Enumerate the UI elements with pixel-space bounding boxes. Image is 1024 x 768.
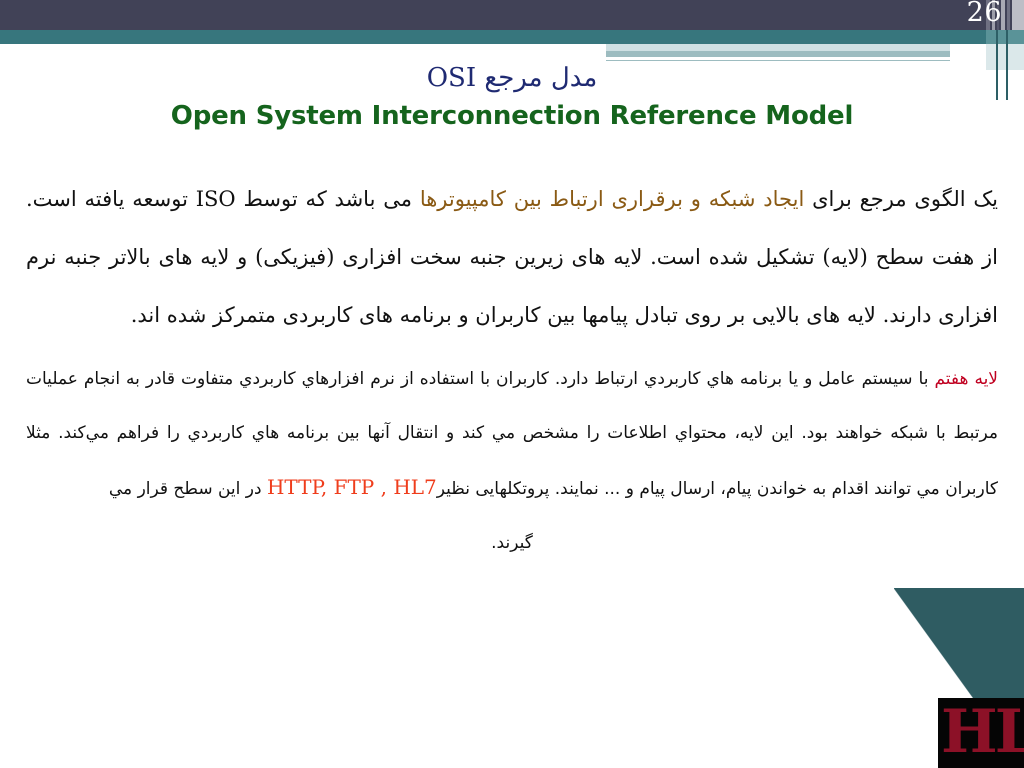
page-title-farsi: مدل مرجع OSI <box>0 58 1024 98</box>
p2-segment-black-tail: در این سطح قرار مي <box>109 479 267 499</box>
p1-segment-black-mid: می باشد که توسط <box>236 187 420 211</box>
header-teal-band <box>0 30 1024 44</box>
hl7-logo-icon: HL7 <box>938 698 1024 768</box>
p2-segment-last-line: گیرند. <box>26 516 998 570</box>
p1-segment-highlight-brown: ایجاد شبکه و برقراری ارتباط بین کامپیوتر… <box>420 187 804 211</box>
header-dark-band <box>0 0 1024 30</box>
page-title-english: Open System Interconnection Reference Mo… <box>0 98 1024 134</box>
slide-title-block: مدل مرجع OSI Open System Interconnection… <box>0 58 1024 134</box>
slide-body: یک الگوی مرجع برای ایجاد شبکه و برقراری … <box>20 170 1004 570</box>
p1-segment-iso-acronym: ISO <box>196 187 236 211</box>
paragraph-layer-seven: لایه هفتم با سیستم عامل و یا برنامه هاي … <box>20 352 1004 570</box>
hl7-logo-label: HL7 <box>941 698 1024 768</box>
paragraph-osi-definition: یک الگوی مرجع برای ایجاد شبکه و برقراری … <box>20 170 1004 344</box>
corner-decoration: HL7 <box>894 588 1024 768</box>
p2-segment-protocols: HTTP, FTP , HL7 <box>267 475 437 499</box>
p2-segment-highlight-crimson: لایه هفتم <box>934 369 998 389</box>
page-number: 26 <box>967 0 1002 29</box>
p1-segment-black-intro: یک الگوی مرجع برای <box>804 187 998 211</box>
header-vstripe-teal-overlay <box>986 30 1024 44</box>
